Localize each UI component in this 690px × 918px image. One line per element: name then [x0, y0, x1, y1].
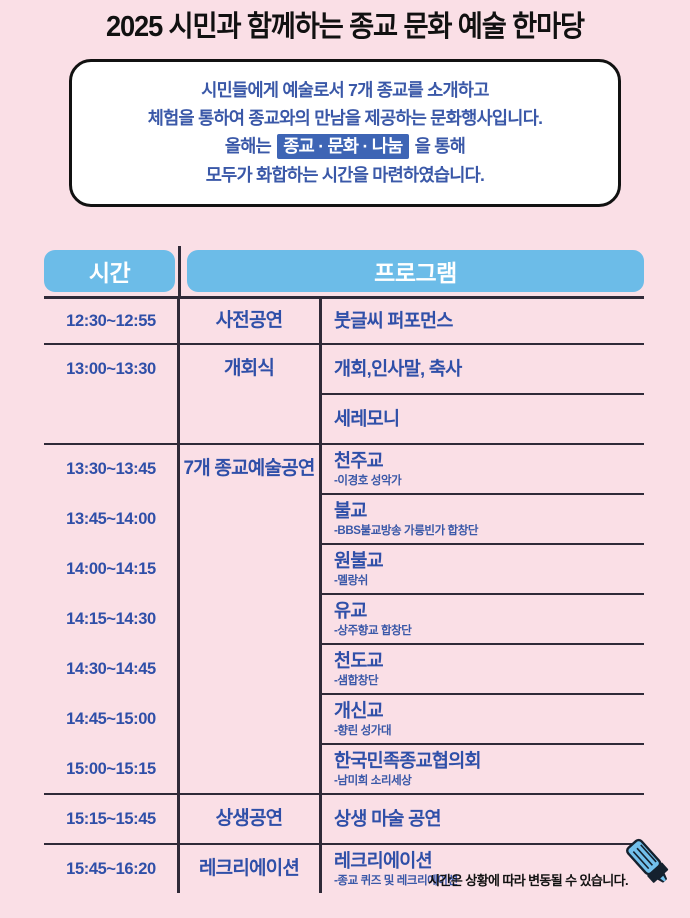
- description-box: 시민들에게 예술로서 7개 종교를 소개하고 체험을 통하여 종교와의 만남을 …: [69, 59, 621, 207]
- program-title: 개신교: [334, 700, 644, 722]
- schedule-table: 시간 프로그램 12:30~12:55사전공연붓글씨 퍼포먼스13:00~13:…: [44, 250, 644, 893]
- program-title: 한국민족종교협의회: [334, 750, 644, 772]
- program-subtitle: -멜랑쉬: [334, 575, 644, 588]
- table-row[interactable]: 14:30~14:45천도교-샘합창단: [44, 645, 644, 693]
- program-subtitle: -향린 성가대: [334, 725, 644, 738]
- cell-time: 15:00~15:15: [44, 745, 178, 793]
- cell-category: [178, 695, 320, 743]
- schedule-header-row: 시간 프로그램: [44, 250, 644, 292]
- cell-time: 13:45~14:00: [44, 495, 178, 543]
- cell-program: 개신교-향린 성가대: [320, 695, 644, 743]
- table-row[interactable]: 14:45~15:00개신교-향린 성가대: [44, 695, 644, 743]
- program-subtitle: -샘합창단: [334, 675, 644, 688]
- program-title: 유교: [334, 600, 644, 622]
- description-line-3: 올해는 종교 · 문화 · 나눔 을 통해: [82, 132, 608, 160]
- table-row[interactable]: 14:00~14:15원불교-멜랑쉬: [44, 545, 644, 593]
- cell-category: [178, 545, 320, 593]
- description-highlight: 종교 · 문화 · 나눔: [277, 134, 408, 159]
- table-row[interactable]: 12:30~12:55사전공연붓글씨 퍼포먼스: [44, 299, 644, 343]
- cell-program: 불교-BBS불교방송 가릉빈가 합창단: [320, 495, 644, 543]
- cell-category: 상생공연: [178, 795, 320, 843]
- cell-program: 천주교-이경호 성악가: [320, 445, 644, 493]
- cell-category: [178, 595, 320, 643]
- cell-program: 천도교-샘합창단: [320, 645, 644, 693]
- cell-time: [44, 395, 178, 443]
- cell-category: 개회식: [178, 345, 320, 393]
- program-subtitle: -이경호 성악가: [334, 475, 644, 488]
- program-title: 레크리에이션: [334, 850, 644, 872]
- description-line-4: 모두가 화합하는 시간을 마련하였습니다.: [82, 161, 608, 189]
- program-subtitle: -상주향교 합창단: [334, 625, 644, 638]
- description-line-2: 체험을 통하여 종교와의 만남을 제공하는 문화행사입니다.: [82, 104, 608, 132]
- table-row[interactable]: 15:00~15:15한국민족종교협의회-남미희 소리세상: [44, 745, 644, 793]
- program-title: 개회,인사말, 축사: [334, 358, 644, 380]
- cell-time: 14:30~14:45: [44, 645, 178, 693]
- table-row[interactable]: 15:15~15:45상생공연상생 마술 공연: [44, 795, 644, 843]
- column-header-program: 프로그램: [187, 250, 644, 292]
- cell-time: 14:00~14:15: [44, 545, 178, 593]
- cell-category-line: 7개 종교: [183, 457, 247, 480]
- cell-category: 7개 종교예술공연: [178, 445, 320, 493]
- cell-program: 상생 마술 공연: [320, 795, 644, 843]
- cell-time: 15:15~15:45: [44, 795, 178, 843]
- cell-program: 유교-상주향교 합창단: [320, 595, 644, 643]
- cell-time: 15:45~16:20: [44, 845, 178, 893]
- table-row[interactable]: 세레모니: [44, 395, 644, 443]
- cell-program: 개회,인사말, 축사: [320, 345, 644, 393]
- footer-note: 시간은 상황에 따라 변동될 수 있습니다.: [428, 870, 628, 889]
- program-subtitle: -남미희 소리세상: [334, 775, 644, 788]
- cell-category: 사전공연: [178, 299, 320, 343]
- cell-time: 14:45~15:00: [44, 695, 178, 743]
- cell-program: 붓글씨 퍼포먼스: [320, 299, 644, 343]
- cell-program: 한국민족종교협의회-남미희 소리세상: [320, 745, 644, 793]
- cell-time: 14:15~14:30: [44, 595, 178, 643]
- page-title: 2025 시민과 함께하는 종교 문화 예술 한마당: [21, 0, 670, 45]
- description-line-3-prefix: 올해는: [225, 136, 271, 156]
- column-divider-category: [319, 299, 322, 893]
- cell-category: [178, 745, 320, 793]
- header-divider: [178, 246, 181, 296]
- cell-time: 13:00~13:30: [44, 345, 178, 393]
- cell-category-line: 예술공연: [248, 457, 315, 480]
- highlighter-pen-icon: [618, 832, 680, 894]
- cell-category: [178, 395, 320, 443]
- program-title: 천도교: [334, 650, 644, 672]
- cell-category: 레크리에이션: [178, 845, 320, 893]
- program-title: 원불교: [334, 550, 644, 572]
- cell-program: 원불교-멜랑쉬: [320, 545, 644, 593]
- description-line-1: 시민들에게 예술로서 7개 종교를 소개하고: [82, 76, 608, 104]
- cell-category: [178, 495, 320, 543]
- cell-time: 12:30~12:55: [44, 299, 178, 343]
- cell-category: [178, 645, 320, 693]
- table-row[interactable]: 13:00~13:30개회식개회,인사말, 축사: [44, 345, 644, 393]
- table-row[interactable]: 14:15~14:30유교-상주향교 합창단: [44, 595, 644, 643]
- program-title: 붓글씨 퍼포먼스: [334, 310, 644, 332]
- program-title: 세레모니: [334, 408, 644, 430]
- program-title: 상생 마술 공연: [334, 808, 644, 830]
- schedule-body: 12:30~12:55사전공연붓글씨 퍼포먼스13:00~13:30개회식개회,…: [44, 299, 644, 893]
- program-title: 불교: [334, 500, 644, 522]
- cell-time: 13:30~13:45: [44, 445, 178, 493]
- column-divider-time: [177, 299, 180, 893]
- table-row[interactable]: 13:45~14:00불교-BBS불교방송 가릉빈가 합창단: [44, 495, 644, 543]
- program-title: 천주교: [334, 450, 644, 472]
- description-line-3-suffix: 을 통해: [415, 136, 465, 156]
- cell-program: 세레모니: [320, 395, 644, 443]
- column-header-time: 시간: [44, 250, 175, 292]
- table-row[interactable]: 13:30~13:457개 종교예술공연천주교-이경호 성악가: [44, 445, 644, 493]
- program-subtitle: -BBS불교방송 가릉빈가 합창단: [334, 525, 644, 538]
